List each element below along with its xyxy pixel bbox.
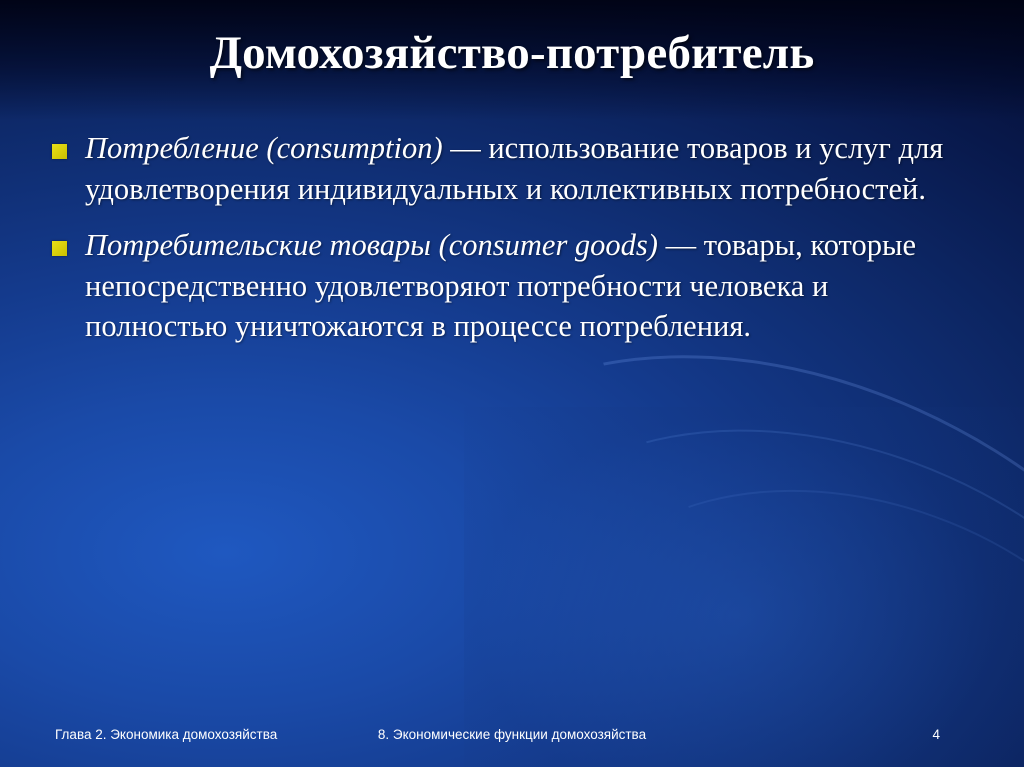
decorative-swoosh-3 — [495, 409, 1024, 767]
slide: Домохозяйство-потребитель Потребление (c… — [0, 0, 1024, 767]
background-glow — [464, 407, 1024, 767]
slide-body: Потребление (consumption) — использовани… — [52, 128, 952, 363]
bullet-square-icon — [52, 241, 67, 256]
list-item: Потребление (consumption) — использовани… — [52, 128, 952, 209]
list-item: Потребительские товары (consumer goods) … — [52, 225, 952, 347]
bullet-2-lead: Потребительские товары (consumer goods) — [85, 228, 658, 262]
bullet-text-1: Потребление (consumption) — использовани… — [85, 128, 952, 209]
bullet-square-icon — [52, 144, 67, 159]
footer-page-number: 4 — [932, 727, 940, 742]
bullet-1-lead: Потребление (consumption) — [85, 131, 443, 165]
bullet-text-2: Потребительские товары (consumer goods) … — [85, 225, 952, 347]
decorative-swoosh-2 — [386, 320, 1024, 767]
slide-footer: Глава 2. Экономика домохозяйства 8. Экон… — [0, 727, 1024, 747]
footer-section-label: 8. Экономические функции домохозяйства — [0, 727, 1024, 742]
page-title: Домохозяйство-потребитель — [0, 26, 1024, 80]
